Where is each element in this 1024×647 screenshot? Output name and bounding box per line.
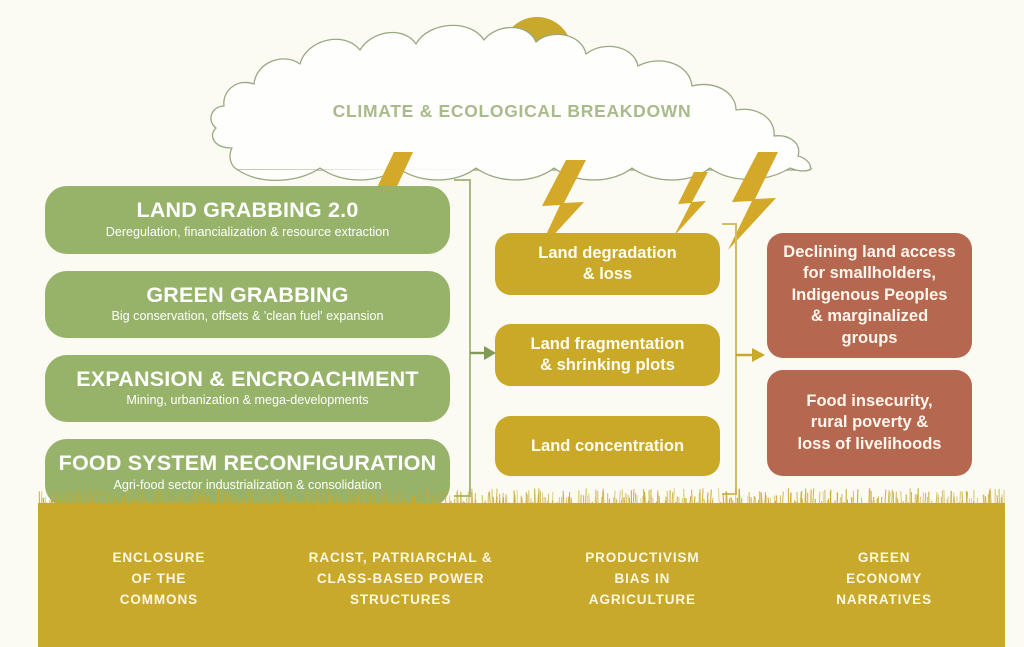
ground-label-power-structures: RACIST, PATRIARCHAL &CLASS-BASED POWERST… <box>280 548 522 628</box>
driver-title: GREEN GRABBING <box>146 284 348 308</box>
page-title: CLIMATE & ECOLOGICAL BREAKDOWN <box>0 101 1024 122</box>
driver-title: LAND GRABBING 2.0 <box>136 199 358 223</box>
lightning-bolt-icon <box>728 152 778 250</box>
driver-subtitle: Agri-food sector industrialization & con… <box>113 478 381 494</box>
ground-labels: ENCLOSUREOF THECOMMONS RACIST, PATRIARCH… <box>38 548 1005 628</box>
impact-box-land-fragmentation[interactable]: Land fragmentation& shrinking plots <box>495 324 720 386</box>
outcome-box-food-insecurity[interactable]: Food insecurity,rural poverty &loss of l… <box>767 370 972 476</box>
impact-box-land-degradation[interactable]: Land degradation& loss <box>495 233 720 295</box>
driver-box-green-grabbing[interactable]: GREEN GRABBING Big conservation, offsets… <box>45 271 450 338</box>
driver-subtitle: Deregulation, financialization & resourc… <box>106 225 390 241</box>
ground-label-green-economy: GREENECONOMYNARRATIVES <box>763 548 1005 628</box>
impacts-to-outcomes-arrow <box>736 348 765 362</box>
driver-title: FOOD SYSTEM RECONFIGURATION <box>59 452 437 476</box>
impacts-bracket <box>722 224 736 494</box>
infographic-root: CLIMATE & ECOLOGICAL BREAKDOWN LAND GRAB… <box>0 0 1024 647</box>
ground-label-enclosure: ENCLOSUREOF THECOMMONS <box>38 548 280 628</box>
driver-title: EXPANSION & ENCROACHMENT <box>76 368 418 392</box>
driver-box-food-system-reconfiguration[interactable]: FOOD SYSTEM RECONFIGURATION Agri-food se… <box>45 439 450 507</box>
driver-box-land-grabbing[interactable]: LAND GRABBING 2.0 Deregulation, financia… <box>45 186 450 254</box>
drivers-to-impacts-arrow <box>470 346 496 360</box>
driver-subtitle: Big conservation, offsets & 'clean fuel'… <box>111 309 383 325</box>
driver-subtitle: Mining, urbanization & mega-developments <box>126 393 368 409</box>
sun-icon <box>502 17 572 87</box>
lightning-bolt-icon <box>674 172 708 236</box>
driver-box-expansion-encroachment[interactable]: EXPANSION & ENCROACHMENT Mining, urbaniz… <box>45 355 450 422</box>
ground-label-productivism: PRODUCTIVISMBIAS INAGRICULTURE <box>522 548 764 628</box>
drivers-bracket <box>454 180 470 496</box>
impact-box-land-concentration[interactable]: Land concentration <box>495 416 720 476</box>
outcome-box-declining-land-access[interactable]: Declining land accessfor smallholders,In… <box>767 233 972 358</box>
